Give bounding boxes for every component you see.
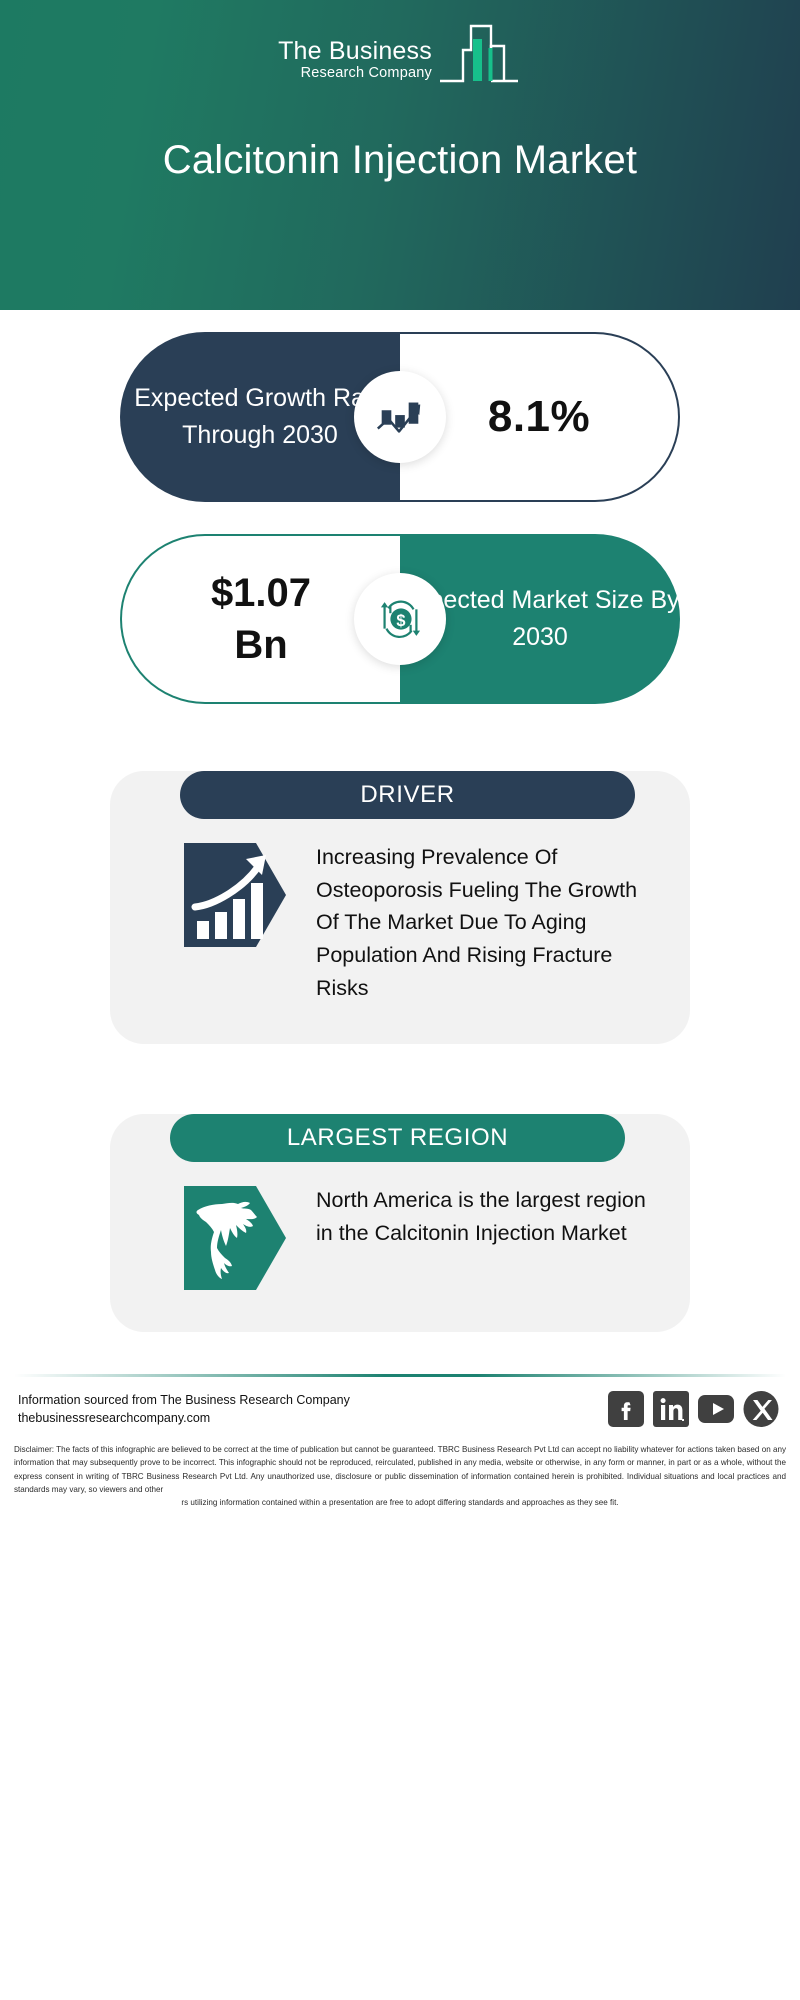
source-attribution: Information sourced from The Business Re… [18, 1391, 350, 1429]
hero-banner: The Business Research Company Calcitonin… [0, 0, 800, 310]
region-icon-shape [184, 1184, 288, 1292]
driver-description: Increasing Prevalence Of Osteoporosis Fu… [316, 841, 646, 1004]
driver-panel: DRIVER Increasing Prevalence Of Osteopor… [110, 771, 690, 1044]
facebook-icon[interactable] [607, 1390, 645, 1428]
disclaimer-last-line: rs utilizing information contained withi… [14, 1496, 786, 1509]
footer-row: Information sourced from The Business Re… [0, 1377, 800, 1432]
dollar-cycle-icon: $ [373, 592, 427, 646]
largest-region-pill: LARGEST REGION [170, 1114, 625, 1162]
driver-icon-shape [184, 841, 288, 949]
stat-icon-badge: $ [354, 573, 446, 665]
x-twitter-icon[interactable] [742, 1390, 780, 1428]
growth-bars-arrow-hex-icon [184, 841, 288, 949]
stat-value-line1: $1.07 [211, 571, 311, 615]
disclaimer-text: Disclaimer: The facts of this infographi… [0, 1432, 800, 1509]
page-title: Calcitonin Injection Market [0, 138, 800, 183]
svg-text:$: $ [396, 612, 405, 630]
stat-icon-badge [354, 371, 446, 463]
driver-pill: DRIVER [180, 771, 635, 819]
growth-chart-arrow-icon [373, 390, 427, 444]
stat-card-market-size: $1.07 Bn Expected Market Size By 2030 $ [120, 534, 680, 704]
source-line-1: Information sourced from The Business Re… [18, 1391, 350, 1410]
youtube-icon[interactable] [697, 1390, 735, 1428]
stat-card-growth-rate: Expected Growth Rate Through 2030 8.1% [120, 332, 680, 502]
largest-region-pill-label: LARGEST REGION [287, 1124, 508, 1152]
driver-pill-label: DRIVER [360, 781, 454, 809]
bar-chart-logo-mark [436, 22, 522, 84]
linkedin-icon[interactable] [652, 1390, 690, 1428]
largest-region-panel: LARGEST REGION North America is the larg… [110, 1114, 690, 1332]
north-america-map-hex-icon [184, 1184, 288, 1292]
largest-region-description: North America is the largest region in t… [316, 1184, 646, 1249]
disclaimer-body: Disclaimer: The facts of this infographi… [14, 1445, 786, 1493]
company-logo: The Business Research Company [0, 22, 800, 84]
logo-secondary-text: Research Company [278, 65, 432, 82]
stat-value-text: 8.1% [488, 392, 590, 442]
stat-value-text: $1.07 Bn [211, 567, 311, 671]
logo-primary-text: The Business [278, 38, 432, 64]
social-links [607, 1390, 780, 1428]
source-line-2[interactable]: thebusinessresearchcompany.com [18, 1409, 350, 1428]
stat-value-line2: Bn [234, 623, 287, 667]
